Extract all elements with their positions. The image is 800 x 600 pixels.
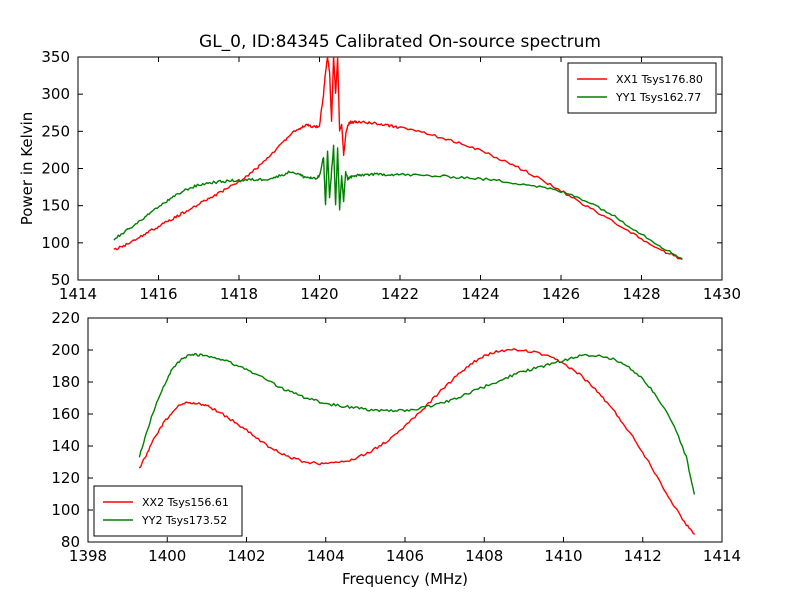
legend-label: YY1 Tsys162.77 [615,91,701,104]
x-tick-label: 1422 [381,285,419,303]
x-tick-label: 1430 [703,285,741,303]
y-tick-label: 80 [61,533,80,551]
y-tick-label: 160 [51,405,80,423]
y-axis-label: Power in Kelvin [18,112,36,226]
y-tick-label: 250 [41,122,70,140]
x-tick-label: 1406 [386,547,424,565]
x-tick-label: 1428 [622,285,660,303]
x-tick-label: 1424 [461,285,499,303]
y-tick-label: 50 [51,271,70,289]
spectrum-plot[interactable]: 1414141614181420142214241426142814305010… [0,0,800,600]
x-tick-label: 1402 [227,547,265,565]
x-tick-label: 1418 [220,285,258,303]
y-tick-label: 120 [51,469,80,487]
axes-bottom: 1398140014021404140614081410141214148010… [51,309,741,588]
y-tick-label: 300 [41,85,70,103]
legend-label: YY2 Tsys173.52 [141,514,227,527]
axes-top: 1414141614181420142214241426142814305010… [18,32,741,303]
x-tick-label: 1420 [300,285,338,303]
x-tick-label: 1426 [542,285,580,303]
y-tick-label: 150 [41,197,70,215]
x-axis-label: Frequency (MHz) [342,570,468,588]
series-line-yy2 [140,354,695,494]
y-tick-label: 200 [41,160,70,178]
x-tick-label: 1410 [544,547,582,565]
plot-title: GL_0, ID:84345 Calibrated On-source spec… [199,32,601,52]
legend-bottom[interactable]: XX2 Tsys156.61YY2 Tsys173.52 [94,486,242,536]
x-tick-label: 1400 [148,547,186,565]
y-tick-label: 100 [41,234,70,252]
x-tick-label: 1412 [624,547,662,565]
legend-box [94,486,242,536]
legend-box [568,63,716,113]
x-tick-label: 1416 [139,285,177,303]
legend-label: XX2 Tsys156.61 [142,496,229,509]
y-tick-label: 140 [51,437,80,455]
x-tick-label: 1414 [703,547,741,565]
y-tick-label: 350 [41,48,70,66]
x-tick-label: 1404 [307,547,345,565]
figure-canvas: 1414141614181420142214241426142814305010… [0,0,800,600]
series-line-yy1 [114,145,682,258]
y-tick-label: 200 [51,341,80,359]
legend-top[interactable]: XX1 Tsys176.80YY1 Tsys162.77 [568,63,716,113]
y-tick-label: 180 [51,373,80,391]
y-tick-label: 220 [51,309,80,327]
legend-label: XX1 Tsys176.80 [616,73,703,86]
y-tick-label: 100 [51,501,80,519]
x-tick-label: 1408 [465,547,503,565]
